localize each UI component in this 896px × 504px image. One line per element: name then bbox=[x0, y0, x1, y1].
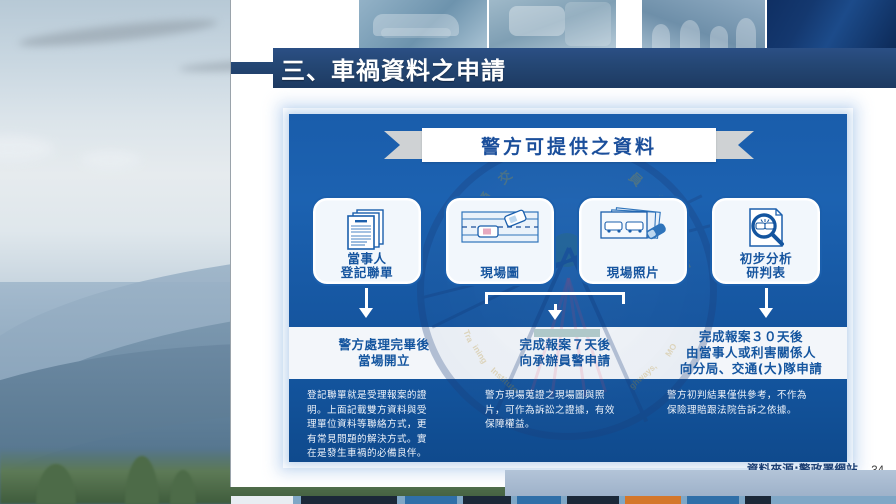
scene-diagram-icon bbox=[446, 203, 554, 253]
scene-photos-icon bbox=[579, 203, 687, 253]
timing-registration-slip: 警方處理完畢後 當場開立 bbox=[299, 327, 469, 379]
arrow-head-3 bbox=[759, 308, 773, 318]
card-label-line1: 現場照片 bbox=[607, 265, 659, 280]
taskbar-start[interactable] bbox=[231, 496, 293, 504]
card-label: 當事人 登記聯單 bbox=[341, 252, 393, 280]
banner-plate: 警方可提供之資料 bbox=[422, 128, 716, 162]
banner-title: 警方可提供之資料 bbox=[481, 132, 657, 159]
card-label-line1: 初步分析 bbox=[740, 251, 792, 266]
timing-analysis-report: 完成報案３０天後 由當事人或利害關係人 向分局、交通(大)隊申請 bbox=[661, 327, 841, 379]
timing-line1: 警方處理完畢後 bbox=[338, 337, 429, 353]
cloud bbox=[81, 151, 141, 169]
taskbar-item[interactable] bbox=[567, 496, 619, 504]
slide-header-photostrip: 交通部公路總局公路人員訓練所 Training Institute, Direc… bbox=[231, 0, 896, 48]
lecturer-photo: 交通部公路總局公路人員訓練所 Training Institute, Direc… bbox=[767, 0, 896, 48]
timing-line3: 向分局、交通(大)隊申請 bbox=[680, 361, 822, 377]
card-label: 現場圖 bbox=[480, 266, 519, 280]
title-notch-bottom bbox=[231, 74, 273, 88]
timing-scene-materials: 完成報案７天後 向承辦員警申請 bbox=[475, 327, 655, 379]
powerpoint-slide: 交通部公路總局公路人員訓練所 Training Institute, Direc… bbox=[231, 0, 896, 487]
card-label-line1: 當事人 bbox=[347, 251, 386, 266]
card-registration-slip[interactable]: 當事人 登記聯單 bbox=[311, 196, 423, 286]
infographic-panel: 交 通 部 公 員 訓 練 所 Tra ining Institute ghwa… bbox=[289, 114, 847, 462]
description-scene-materials: 警方現場蒐證之現場圖與照片，可作為訴訟之證據，有效保障權益。 bbox=[485, 389, 621, 433]
magnifier-report-icon bbox=[712, 203, 820, 253]
infographic-banner: 警方可提供之資料 bbox=[384, 128, 754, 162]
timing-line1: 完成報案７天後 bbox=[519, 337, 610, 353]
description-analysis-report: 警方初判結果僅供參考，不作為保險理賠跟法院告訴之依據。 bbox=[667, 389, 807, 418]
taskbar-item[interactable] bbox=[405, 496, 457, 504]
description-registration-slip: 登記聯單就是受理報案的證明。上面記載雙方資料與受理單位資料等聯絡方式，更有常見問… bbox=[307, 389, 433, 462]
overturned-vehicle-photo bbox=[489, 0, 616, 48]
taskbar-item[interactable] bbox=[745, 496, 771, 504]
taskbar[interactable] bbox=[231, 496, 896, 504]
timing-line2: 由當事人或利害關係人 bbox=[686, 345, 816, 361]
card-label: 現場照片 bbox=[607, 266, 659, 280]
taskbar-item[interactable] bbox=[625, 496, 681, 504]
arrow-shaft-1 bbox=[365, 288, 368, 310]
document-duplicate-icon bbox=[313, 203, 421, 253]
arrow-head-1 bbox=[359, 308, 373, 318]
taskbar-item[interactable] bbox=[463, 496, 511, 504]
description-row: 登記聯單就是受理報案的證明。上面記載雙方資料與受理單位資料等聯絡方式，更有常見問… bbox=[289, 379, 847, 462]
accident-taxi-photo bbox=[359, 0, 487, 48]
page-title: 三、車禍資料之申請 bbox=[281, 50, 506, 86]
timing-line2: 當場開立 bbox=[358, 353, 410, 369]
timing-line2: 向承辦員警申請 bbox=[519, 353, 610, 369]
card-scene-photos[interactable]: 現場照片 bbox=[577, 196, 689, 286]
taskbar-item[interactable] bbox=[517, 496, 561, 504]
timing-line1: 完成報案３０天後 bbox=[699, 329, 803, 345]
document-card-row: 當事人 登記聯單 bbox=[289, 196, 847, 288]
classroom-audience-photo bbox=[642, 0, 765, 48]
card-label-line2: 登記聯單 bbox=[341, 265, 393, 280]
card-preliminary-analysis[interactable]: 初步分析 研判表 bbox=[710, 196, 822, 286]
background-window-bar bbox=[505, 470, 896, 497]
timing-row: 警方處理完畢後 當場開立 完成報案７天後 向承辦員警申請 完成報案３０天後 由當… bbox=[289, 327, 847, 379]
taskbar-item[interactable] bbox=[687, 496, 739, 504]
card-label: 初步分析 研判表 bbox=[740, 252, 792, 280]
title-notch-top bbox=[231, 48, 273, 62]
flow-arrows bbox=[289, 286, 847, 330]
arrow-shaft-3 bbox=[765, 288, 768, 310]
card-scene-diagram[interactable]: 現場圖 bbox=[444, 196, 556, 286]
screen: 交通部公路總局公路人員訓練所 Training Institute, Direc… bbox=[0, 0, 896, 504]
card-label-line1: 現場圖 bbox=[480, 265, 519, 280]
taskbar-item[interactable] bbox=[301, 496, 397, 504]
arrow-head-2 bbox=[548, 310, 562, 320]
card-label-line2: 研判表 bbox=[746, 265, 785, 280]
arrow-bracket-2-3 bbox=[485, 292, 625, 304]
